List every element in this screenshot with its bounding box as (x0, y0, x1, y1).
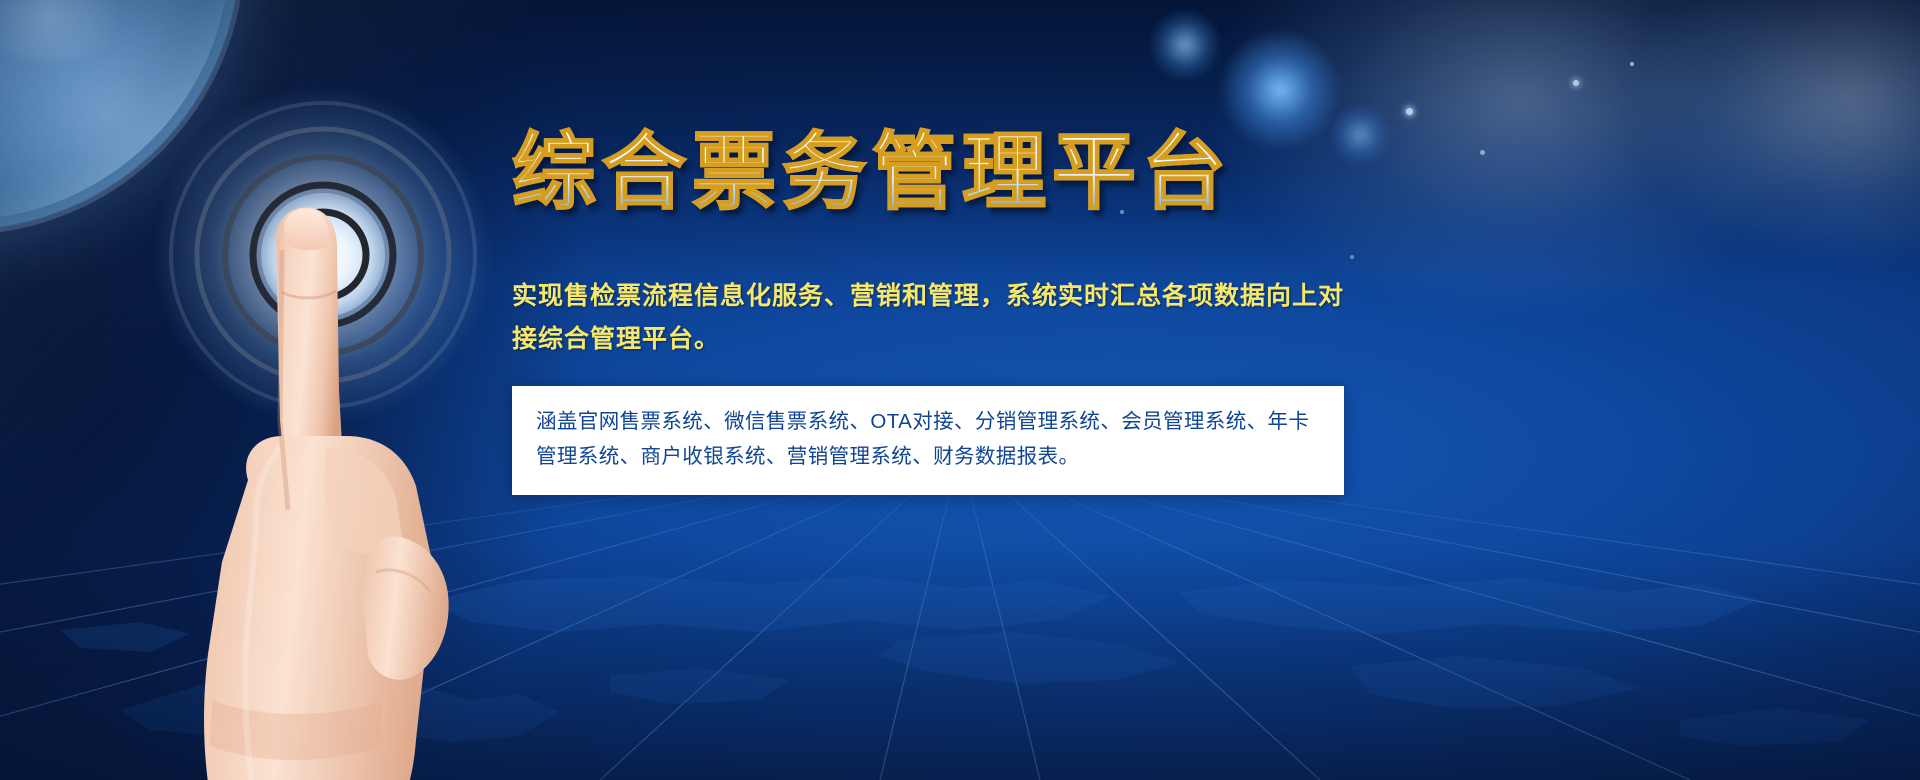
page-subtitle: 实现售检票流程信息化服务、营销和管理，系统实时汇总各项数据向上对接综合管理平台。 (512, 274, 1362, 360)
hero-text-block: 综合票务管理平台 综合票务管理平台 实现售检票流程信息化服务、营销和管理，系统实… (512, 130, 1372, 495)
pointing-hand-icon (130, 180, 550, 780)
banner-hero: 综合票务管理平台 综合票务管理平台 实现售检票流程信息化服务、营销和管理，系统实… (0, 0, 1920, 780)
page-title-text: 综合票务管理平台 (512, 130, 1232, 214)
feature-infobox: 涵盖官网售票系统、微信售票系统、OTA对接、分销管理系统、会员管理系统、年卡管理… (512, 386, 1344, 495)
feature-infobox-text: 涵盖官网售票系统、微信售票系统、OTA对接、分销管理系统、会员管理系统、年卡管理… (536, 404, 1322, 475)
page-title: 综合票务管理平台 综合票务管理平台 (512, 130, 1372, 238)
